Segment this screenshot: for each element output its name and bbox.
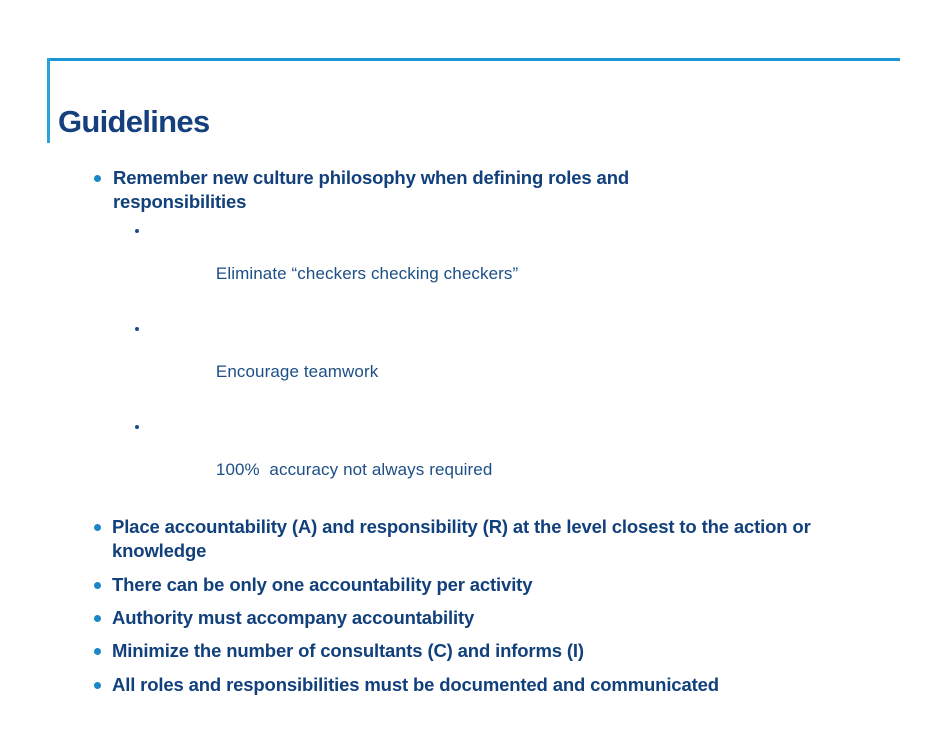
bullet-dot-icon: [94, 524, 101, 531]
bullet-dot-icon: [94, 615, 101, 622]
list-item: All roles and responsibilities must be d…: [0, 673, 950, 697]
bullet-dot-icon: [94, 175, 101, 182]
sub-bullet-text: 100% accuracy not always required: [216, 460, 493, 479]
bullet-text: Place accountability (A) and responsibil…: [112, 516, 811, 561]
sub-bullet-dot-icon: [135, 327, 139, 331]
list-item: There can be only one accountability per…: [0, 573, 950, 597]
page-title: Guidelines: [58, 106, 209, 137]
sub-bullet-text: Encourage teamwork: [216, 362, 378, 381]
bullet-dot-icon: [94, 648, 101, 655]
header-rule-vertical: [47, 58, 50, 143]
content-area: Remember new culture philosophy when def…: [0, 166, 950, 706]
list-item: 100% accuracy not always required: [113, 417, 735, 502]
bullet-text: Remember new culture philosophy when def…: [113, 167, 629, 212]
bullet-text: Authority must accompany accountability: [112, 607, 474, 628]
bullet-text: Minimize the number of consultants (C) a…: [112, 640, 584, 661]
list-item: Remember new culture philosophy when def…: [0, 166, 950, 502]
bullet-list: Remember new culture philosophy when def…: [0, 166, 950, 697]
sub-bullet-dot-icon: [135, 425, 139, 429]
header-rule-horizontal: [47, 58, 900, 61]
sub-bullet-list: Eliminate “checkers checking checkers” E…: [113, 221, 735, 502]
bullet-dot-icon: [94, 582, 101, 589]
bullet-text: There can be only one accountability per…: [112, 574, 532, 595]
bullet-dot-icon: [94, 682, 101, 689]
bullet-text: All roles and responsibilities must be d…: [112, 674, 719, 695]
sub-bullet-dot-icon: [135, 229, 139, 233]
list-item: Minimize the number of consultants (C) a…: [0, 639, 950, 663]
slide: Guidelines Remember new culture philosop…: [0, 0, 950, 733]
list-item: Authority must accompany accountability: [0, 606, 950, 630]
sub-bullet-text: Eliminate “checkers checking checkers”: [216, 264, 518, 283]
list-item: Eliminate “checkers checking checkers”: [113, 221, 735, 306]
list-item: Place accountability (A) and responsibil…: [0, 515, 950, 564]
list-item: Encourage teamwork: [113, 319, 735, 404]
